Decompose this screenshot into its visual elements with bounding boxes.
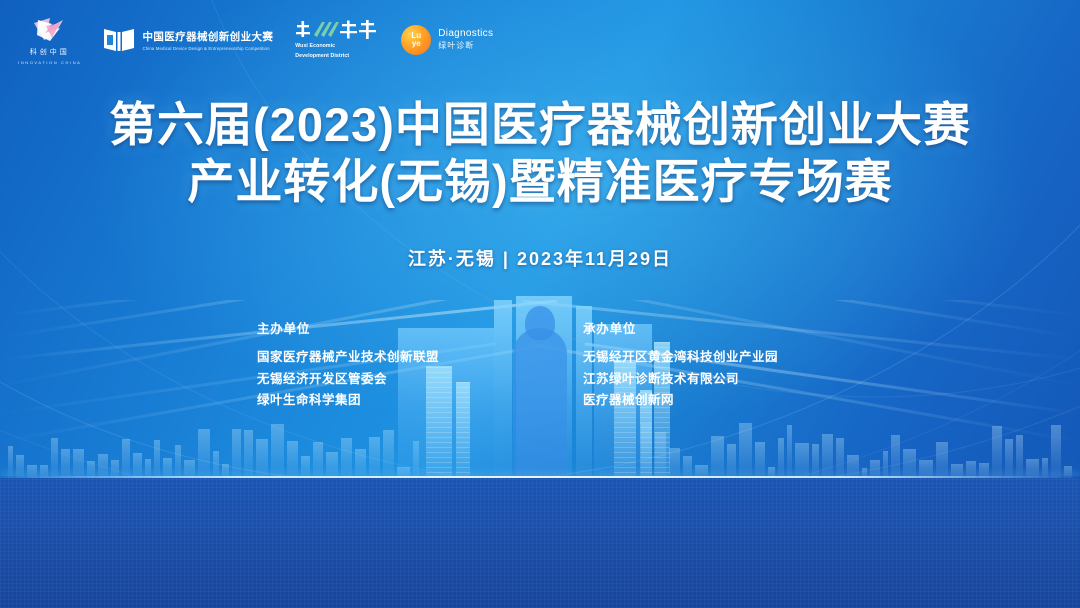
logo-innovation-china[interactable]: 科创中国 INNOVATION CHINA — [18, 14, 81, 65]
calligraphy-mark-icon — [295, 19, 379, 41]
skyline-building — [8, 446, 13, 478]
skyline-building — [313, 442, 323, 478]
logo-label-cn: 科创中国 — [30, 47, 70, 57]
skyline-building — [711, 436, 724, 478]
logo-label-en: INNOVATION CHINA — [18, 60, 81, 65]
organizer-heading: 承办单位 — [583, 318, 823, 337]
sponsor-logo-bar: 科创中国 INNOVATION CHINA 中国医疗器械创新创业大赛 China… — [18, 14, 493, 65]
skyline-building — [154, 440, 160, 478]
skyline-building — [341, 438, 352, 478]
logo-luye-diagnostics[interactable]: Lu ye Diagnostics 绿叶诊断 — [401, 25, 493, 55]
organizer-column-co-host: 承办单位 无锡经开区黄金湾科技创业产业园 江苏绿叶诊断技术有限公司 医疗器械创新… — [583, 318, 823, 412]
skyline-building — [755, 442, 765, 478]
skyline-building — [739, 423, 752, 478]
title-block: 第六届(2023)中国医疗器械创新创业大赛 产业转化(无锡)暨精准医疗专场赛 江… — [0, 96, 1080, 271]
skyline-building — [61, 449, 70, 478]
background-city-scene — [0, 378, 1080, 608]
organizer-item: 无锡经济开发区管委会 — [257, 369, 497, 391]
ground-plane — [0, 478, 1080, 608]
skyline-building — [369, 437, 380, 478]
luye-circle-icon: Lu ye — [401, 25, 431, 55]
logo-label-en: Diagnostics — [438, 28, 493, 39]
logo-wuxi-economic-development-district[interactable]: Wuxi Economic Development District — [295, 19, 379, 59]
skyline-building — [836, 438, 844, 478]
open-book-icon — [103, 26, 135, 54]
organizer-item: 医疗器械创新网 — [583, 390, 823, 412]
skyline-building — [1042, 458, 1048, 478]
page-title-line-1: 第六届(2023)中国医疗器械创新创业大赛 — [0, 96, 1080, 153]
organizer-heading: 主办单位 — [257, 318, 497, 337]
skyline-building — [883, 451, 888, 478]
skyline-building — [232, 429, 241, 478]
skyline-building — [244, 430, 253, 478]
logo-label-en-line1: Wuxi Economic — [295, 43, 335, 50]
skyline-building — [133, 453, 142, 478]
poster-canvas: 科创中国 INNOVATION CHINA 中国医疗器械创新创业大赛 China… — [0, 0, 1080, 608]
skyline-building — [936, 442, 948, 478]
skyline-building — [175, 445, 181, 478]
skyline-building — [1005, 439, 1013, 478]
bird-mark-icon — [30, 14, 70, 44]
skyline-building — [795, 443, 809, 478]
skyline-building — [326, 452, 338, 478]
skyline-left — [8, 424, 419, 478]
skyline-building — [98, 454, 108, 478]
skyline-building — [847, 455, 859, 478]
skyline-building — [1051, 425, 1061, 478]
page-title-line-2: 产业转化(无锡)暨精准医疗专场赛 — [0, 153, 1080, 210]
skyline-building — [271, 424, 284, 478]
skyline-building — [822, 434, 833, 478]
logo-label-en-line2: Development District — [295, 53, 349, 60]
organizer-column-host: 主办单位 国家医疗器械产业技术创新联盟 无锡经济开发区管委会 绿叶生命科学集团 — [257, 318, 497, 412]
skyline-building — [787, 425, 792, 478]
skyline-right — [641, 423, 1072, 478]
skyline-building — [198, 429, 210, 478]
skyline-building — [122, 439, 130, 478]
skyline-building — [778, 438, 784, 478]
skyline-building — [1016, 435, 1023, 478]
skyline-building — [812, 444, 819, 478]
skyline-building — [163, 458, 172, 478]
organizer-section: 主办单位 国家医疗器械产业技术创新联盟 无锡经济开发区管委会 绿叶生命科学集团 … — [0, 318, 1080, 412]
organizer-item: 无锡经开区黄金湾科技创业产业园 — [583, 347, 823, 369]
logo-label-cn: 绿叶诊断 — [438, 40, 493, 51]
skyline-building — [301, 456, 310, 478]
skyline-building — [727, 444, 736, 478]
skyline-building — [903, 449, 916, 478]
skyline-building — [992, 426, 1002, 478]
logo-label-cn: 中国医疗器械创新创业大赛 — [142, 29, 273, 44]
logo-label-en: China Medical Device Design & Entreprene… — [142, 46, 273, 51]
event-location-date: 江苏·无锡 | 2023年11月29日 — [0, 245, 1080, 271]
skyline-building — [73, 449, 84, 478]
skyline-building — [355, 449, 366, 478]
skyline-building — [51, 438, 58, 478]
skyline-building — [16, 455, 24, 478]
organizer-item: 国家医疗器械产业技术创新联盟 — [257, 347, 497, 369]
skyline-building — [287, 441, 298, 478]
luye-badge-line2: ye — [412, 39, 421, 48]
logo-china-medical-device-competition[interactable]: 中国医疗器械创新创业大赛 China Medical Device Design… — [103, 26, 273, 54]
organizer-item: 绿叶生命科学集团 — [257, 390, 497, 412]
skyline-building — [213, 451, 219, 478]
organizer-item: 江苏绿叶诊断技术有限公司 — [583, 369, 823, 391]
skyline-building — [891, 435, 900, 478]
skyline-building — [256, 439, 268, 478]
